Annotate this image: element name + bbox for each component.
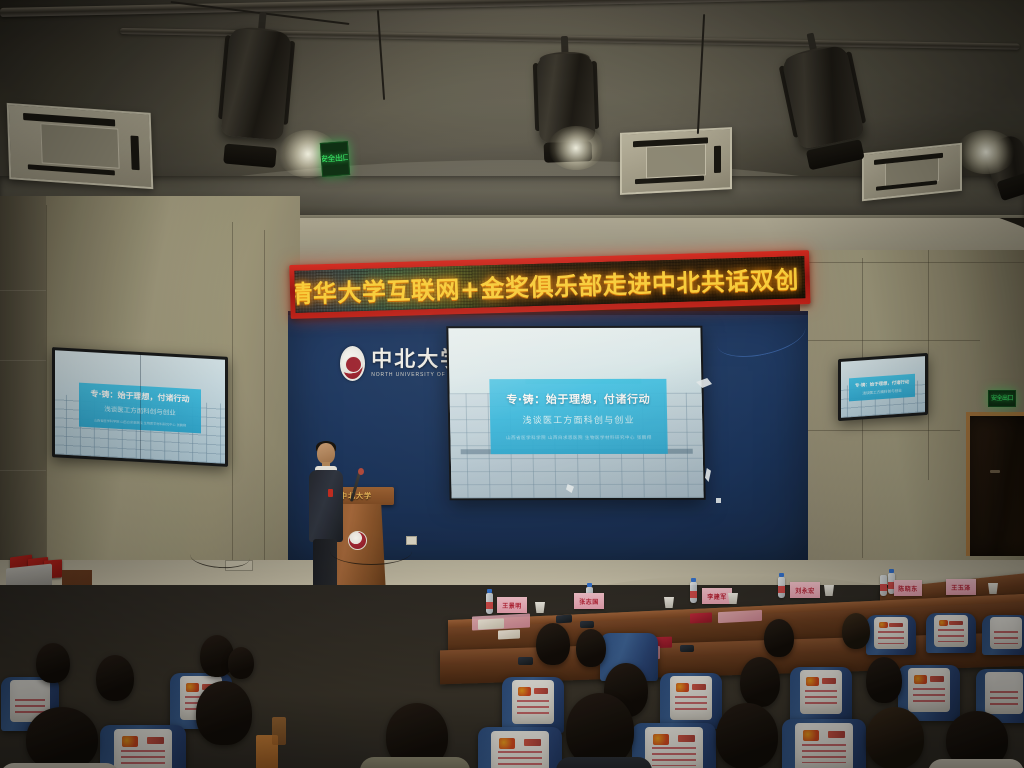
audience-head — [576, 629, 606, 667]
seat-headrest-cover — [800, 670, 842, 714]
seat-headrest-cover — [491, 731, 548, 768]
right-tv-title: 专·铸：始于理想，付诸行动 — [855, 379, 909, 389]
smartphone[interactable] — [680, 645, 694, 652]
wall-panel-seam — [800, 262, 1024, 263]
audience-head-foreground — [26, 707, 98, 768]
smartphone[interactable] — [556, 615, 572, 624]
hvac-vent-left — [7, 103, 154, 189]
audience-seat[interactable] — [502, 677, 564, 733]
audience-seat[interactable] — [926, 613, 976, 653]
seat-cover-logo-icon — [653, 734, 669, 745]
seat-cover-logo-icon — [534, 688, 548, 694]
wall-panel-seam — [0, 360, 46, 361]
seat-cover-logo-icon — [879, 622, 888, 628]
seat-cover-logo-icon — [499, 738, 515, 749]
audience-head — [96, 655, 134, 701]
seat-cover-logo-icon — [828, 731, 845, 738]
audience-area: 王玉泽 王景明 张志国 李建军 刘永宏 陈晓 — [0, 585, 1024, 768]
seat-cover-text — [652, 747, 695, 766]
audience-seat[interactable] — [478, 727, 562, 768]
audience-shoulders — [556, 757, 652, 768]
water-bottle[interactable] — [778, 577, 785, 598]
bottle-cap — [779, 573, 784, 577]
seat-headrest-cover — [512, 680, 554, 724]
wall-panel-seam — [264, 230, 265, 570]
seat-cover-text — [121, 750, 165, 768]
audience-head — [740, 657, 780, 707]
bottle-cap — [587, 583, 592, 587]
audience-head-foreground — [196, 681, 252, 745]
presenter — [305, 443, 345, 589]
spotlight-glow — [548, 126, 604, 170]
audience-seat[interactable] — [782, 719, 866, 768]
seat-headrest-cover — [795, 723, 852, 768]
seat-cover-logo-icon — [889, 623, 903, 627]
audience-head-foreground — [866, 707, 924, 768]
seat-headrest-cover — [874, 617, 908, 648]
right-tv-slide-card: 专·铸：始于理想，付诸行动 浅谈医工方面科创与创业 — [849, 374, 915, 402]
door-handle[interactable] — [990, 470, 1000, 473]
audience-seat[interactable] — [790, 667, 852, 723]
seat-headrest-cover — [670, 676, 712, 720]
seat-cover-text — [675, 696, 707, 713]
stage-floor-box — [406, 536, 417, 545]
audience-head — [764, 619, 794, 657]
name-placard: 张志国 — [574, 593, 604, 609]
seat-cover-logo-icon — [122, 736, 138, 747]
seat-cover-logo-icon — [678, 735, 695, 742]
audience-head-foreground — [566, 693, 634, 767]
seat-headrest-cover — [114, 729, 172, 768]
name-placard: 李建军 — [702, 588, 732, 604]
spotlight-glow — [956, 130, 1016, 174]
seat-cover-text — [517, 700, 549, 717]
wall-panel-seam — [800, 430, 960, 431]
seat-cover-logo-icon — [186, 683, 199, 692]
water-bottle[interactable] — [880, 575, 887, 596]
paper-cup[interactable] — [824, 585, 834, 596]
name-placard: 陈晓东 — [894, 580, 922, 596]
audience-seat[interactable] — [866, 615, 916, 655]
seat-headrest-cover — [908, 668, 950, 712]
bottle-cap — [889, 569, 894, 573]
screen-glare — [448, 328, 703, 498]
smartphone[interactable] — [580, 621, 594, 628]
seat-cover-text — [802, 744, 845, 763]
backdrop-reflection-mark — [716, 498, 721, 503]
seat-cover-text — [878, 631, 904, 643]
audience-head-foreground — [716, 703, 778, 768]
exit-sign-ceiling: 安全出口 — [320, 141, 350, 177]
bottle-cap — [487, 589, 492, 593]
paper-cup[interactable] — [728, 593, 738, 604]
presenter-badge — [328, 489, 333, 497]
paper-cup[interactable] — [535, 602, 545, 613]
projection-screen-surface: 专·铸：始于理想，付诸行动 浅谈医工方面科创与创业 山西省医学科学院 山西白求恩… — [448, 328, 703, 498]
microphone-head-icon — [358, 468, 364, 475]
seat-cover-logo-icon — [949, 621, 963, 625]
audience-seat[interactable] — [100, 725, 186, 768]
seat-cover-logo-icon — [939, 620, 948, 626]
presenter-head — [317, 443, 335, 464]
name-placard: 刘永宏 — [790, 582, 820, 598]
audience-shoulders — [928, 759, 1024, 768]
presenter-torso — [309, 470, 343, 542]
seat-cover-logo-icon — [518, 687, 531, 696]
left-wall-television: 专·铸：始于理想，付诸行动 浅谈医工方面科创与创业 山西省医学科学院 山西白求恩… — [52, 347, 228, 467]
audience-head — [866, 657, 902, 703]
notebook[interactable] — [478, 618, 504, 629]
audience-shoulders — [360, 757, 470, 768]
seat-cover-text — [805, 690, 837, 707]
right-tv-screen: 专·铸：始于理想，付诸行动 浅谈医工方面科创与创业 — [841, 356, 925, 418]
seat-cover-logo-icon — [914, 675, 927, 684]
seat-cover-logo-icon — [147, 737, 164, 744]
exit-sign-right-door: 安全出口 — [988, 390, 1016, 407]
audience-head — [228, 647, 254, 679]
seat-cover-logo-icon — [803, 730, 819, 741]
left-tv-screen: 专·铸：始于理想，付诸行动 浅谈医工方面科创与创业 山西省医学科学院 山西白求恩… — [55, 350, 225, 464]
seat-cover-text — [990, 691, 1019, 708]
main-projection-screen: 专·铸：始于理想，付诸行动 浅谈医工方面科创与创业 山西省医学科学院 山西白求恩… — [446, 326, 705, 500]
seat-headrest-cover — [990, 617, 1023, 648]
right-tv-subtitle: 浅谈医工方面科创与创业 — [862, 388, 902, 396]
audience-seat[interactable] — [982, 615, 1024, 655]
exit-sign-label: 安全出口 — [320, 154, 350, 164]
wall-panel-seam — [928, 250, 929, 480]
seat-headrest-cover — [645, 727, 702, 768]
audience-head — [36, 643, 70, 683]
aisle-chair-arm — [272, 717, 286, 745]
stage-cable — [330, 538, 412, 565]
red-folder[interactable] — [690, 612, 712, 623]
university-seal-icon — [340, 346, 365, 381]
seat-headrest-cover — [985, 672, 1023, 714]
audience-seat[interactable] — [660, 673, 722, 729]
wall-panel-seam — [0, 470, 46, 471]
bottle-cap — [691, 578, 696, 582]
audience-head — [536, 623, 570, 665]
desk-pink-mat — [718, 610, 762, 623]
seat-cover-logo-icon — [524, 739, 541, 746]
exit-sign-label: 安全出口 — [991, 396, 1013, 402]
name-placard: 王玉泽 — [946, 579, 976, 595]
water-bottle[interactable] — [690, 582, 697, 603]
paper-cup[interactable] — [664, 597, 674, 608]
seat-cover-text — [994, 631, 1019, 643]
water-bottle[interactable] — [486, 593, 493, 614]
name-placard: 王景明 — [497, 597, 527, 613]
seat-cover-text — [938, 629, 964, 641]
auditorium-photo: 安全出口 安全出口 中北大学 NORTH UNIVERSITY OF CHINA… — [0, 0, 1024, 768]
audience-shoulders — [0, 763, 120, 768]
notebook[interactable] — [498, 629, 520, 639]
hvac-vent-center — [620, 127, 732, 195]
audience-head — [842, 613, 870, 649]
seat-cover-logo-icon — [806, 677, 819, 686]
seat-cover-text — [913, 688, 945, 705]
wall-panel-seam — [800, 340, 980, 341]
paper-cup[interactable] — [988, 583, 998, 594]
seat-cover-logo-icon — [930, 676, 944, 682]
smartphone[interactable] — [518, 657, 533, 665]
seat-headrest-cover — [934, 615, 968, 646]
seat-cover-logo-icon — [822, 678, 836, 684]
rear-right-door[interactable] — [966, 412, 1024, 556]
seat-cover-logo-icon — [676, 683, 689, 692]
seat-cover-logo-icon — [692, 684, 706, 690]
seat-cover-text — [498, 751, 541, 768]
right-wall-television: 专·铸：始于理想，付诸行动 浅谈医工方面科创与创业 — [838, 353, 928, 421]
wall-panel-seam — [0, 290, 46, 291]
